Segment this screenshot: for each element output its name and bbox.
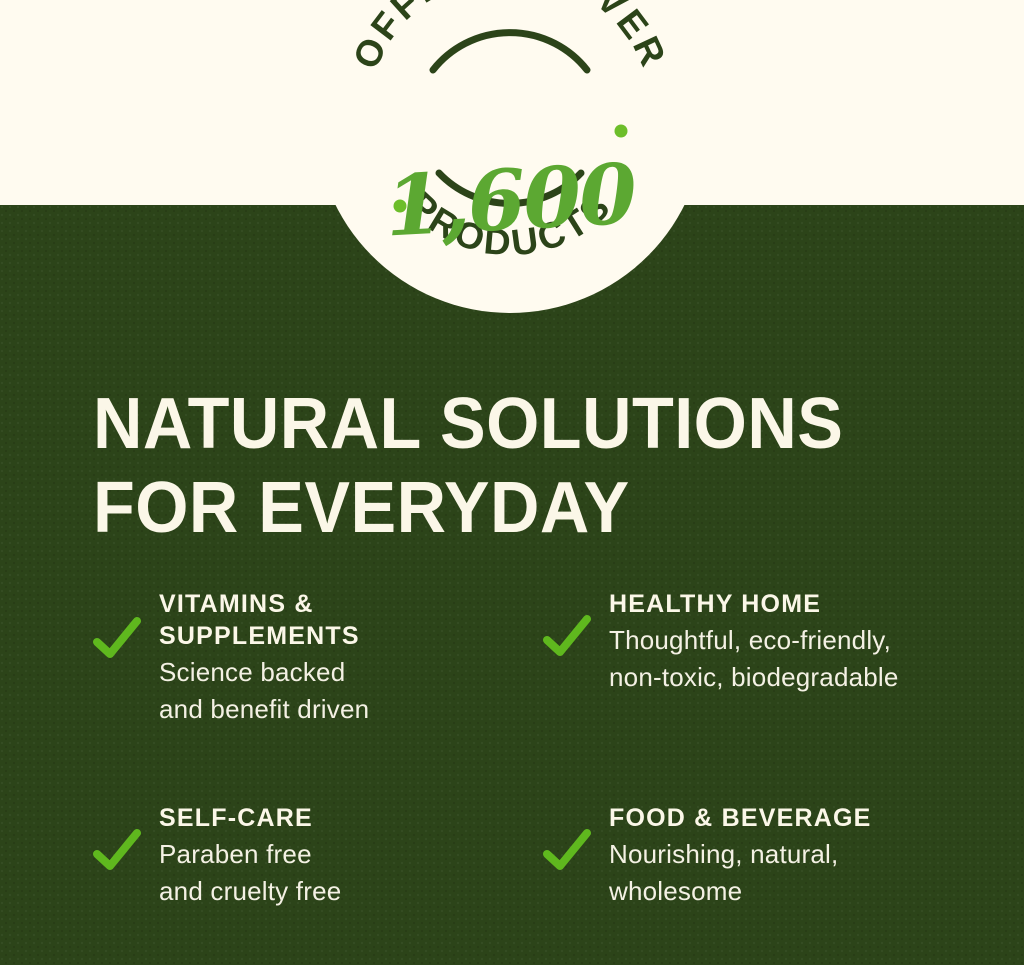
page-title: NATURAL SOLUTIONS FOR EVERYDAY [93, 382, 929, 550]
check-icon [93, 616, 141, 664]
badge-dot-right [615, 125, 628, 138]
feature-title: SELF-CARE [159, 802, 341, 834]
badge-inner-arc-bottom [439, 173, 581, 203]
feature-title: HEALTHY HOME [609, 588, 899, 620]
page-title-line-2: FOR EVERYDAY [93, 466, 929, 550]
feature-title-line-2: SUPPLEMENTS [159, 620, 369, 652]
feature-desc-line-2: and benefit driven [159, 691, 369, 728]
feature-title-line-1: VITAMINS & [159, 588, 369, 620]
feature-description: Thoughtful, eco-friendly, non-toxic, bio… [609, 622, 899, 696]
badge-arc-bottom-text: PRODUCTS [400, 184, 620, 264]
promo-banner: OFFERING OVER PRODUCTS 1,600 NATURAL SOL… [0, 0, 1024, 965]
feature-text: FOOD & BEVERAGE Nourishing, natural, who… [543, 802, 871, 910]
feature-text: HEALTHY HOME Thoughtful, eco-friendly, n… [543, 588, 899, 696]
feature-description: Nourishing, natural, wholesome [609, 836, 871, 910]
check-icon [543, 828, 591, 876]
feature-title: VITAMINS & SUPPLEMENTS [159, 588, 369, 652]
feature-desc-line-1: Science backed [159, 654, 369, 691]
feature-desc-line-1: Thoughtful, eco-friendly, [609, 622, 899, 659]
feature-title-line-1: SELF-CARE [159, 802, 341, 834]
feature-title: FOOD & BEVERAGE [609, 802, 871, 834]
page-title-line-1: NATURAL SOLUTIONS [93, 382, 929, 466]
feature-title-line-1: FOOD & BEVERAGE [609, 802, 871, 834]
feature-row-1: VITAMINS & SUPPLEMENTS Science backed an… [0, 588, 1024, 788]
feature-desc-line-2: wholesome [609, 873, 871, 910]
feature-title-line-1: HEALTHY HOME [609, 588, 899, 620]
badge-inner-arc-top [433, 33, 587, 70]
feature-desc-line-2: and cruelty free [159, 873, 341, 910]
feature-item-vitamins: VITAMINS & SUPPLEMENTS Science backed an… [93, 588, 512, 788]
badge-dot-left [394, 200, 407, 213]
badge-arc-top-text: OFFERING OVER [345, 0, 675, 75]
check-icon [93, 828, 141, 876]
feature-item-food-beverage: FOOD & BEVERAGE Nourishing, natural, who… [543, 802, 1024, 910]
badge-artwork: OFFERING OVER PRODUCTS [315, 0, 705, 313]
feature-row-2: SELF-CARE Paraben free and cruelty free [0, 802, 1024, 910]
feature-desc-line-1: Nourishing, natural, [609, 836, 871, 873]
feature-item-self-care: SELF-CARE Paraben free and cruelty free [93, 802, 512, 910]
feature-desc-line-1: Paraben free [159, 836, 341, 873]
feature-description: Science backed and benefit driven [159, 654, 369, 728]
check-icon [543, 614, 591, 662]
feature-item-healthy-home: HEALTHY HOME Thoughtful, eco-friendly, n… [543, 588, 1024, 788]
feature-description: Paraben free and cruelty free [159, 836, 341, 910]
feature-desc-line-2: non-toxic, biodegradable [609, 659, 899, 696]
feature-list: VITAMINS & SUPPLEMENTS Science backed an… [0, 588, 1024, 910]
products-count-badge: OFFERING OVER PRODUCTS 1,600 [315, 0, 705, 313]
